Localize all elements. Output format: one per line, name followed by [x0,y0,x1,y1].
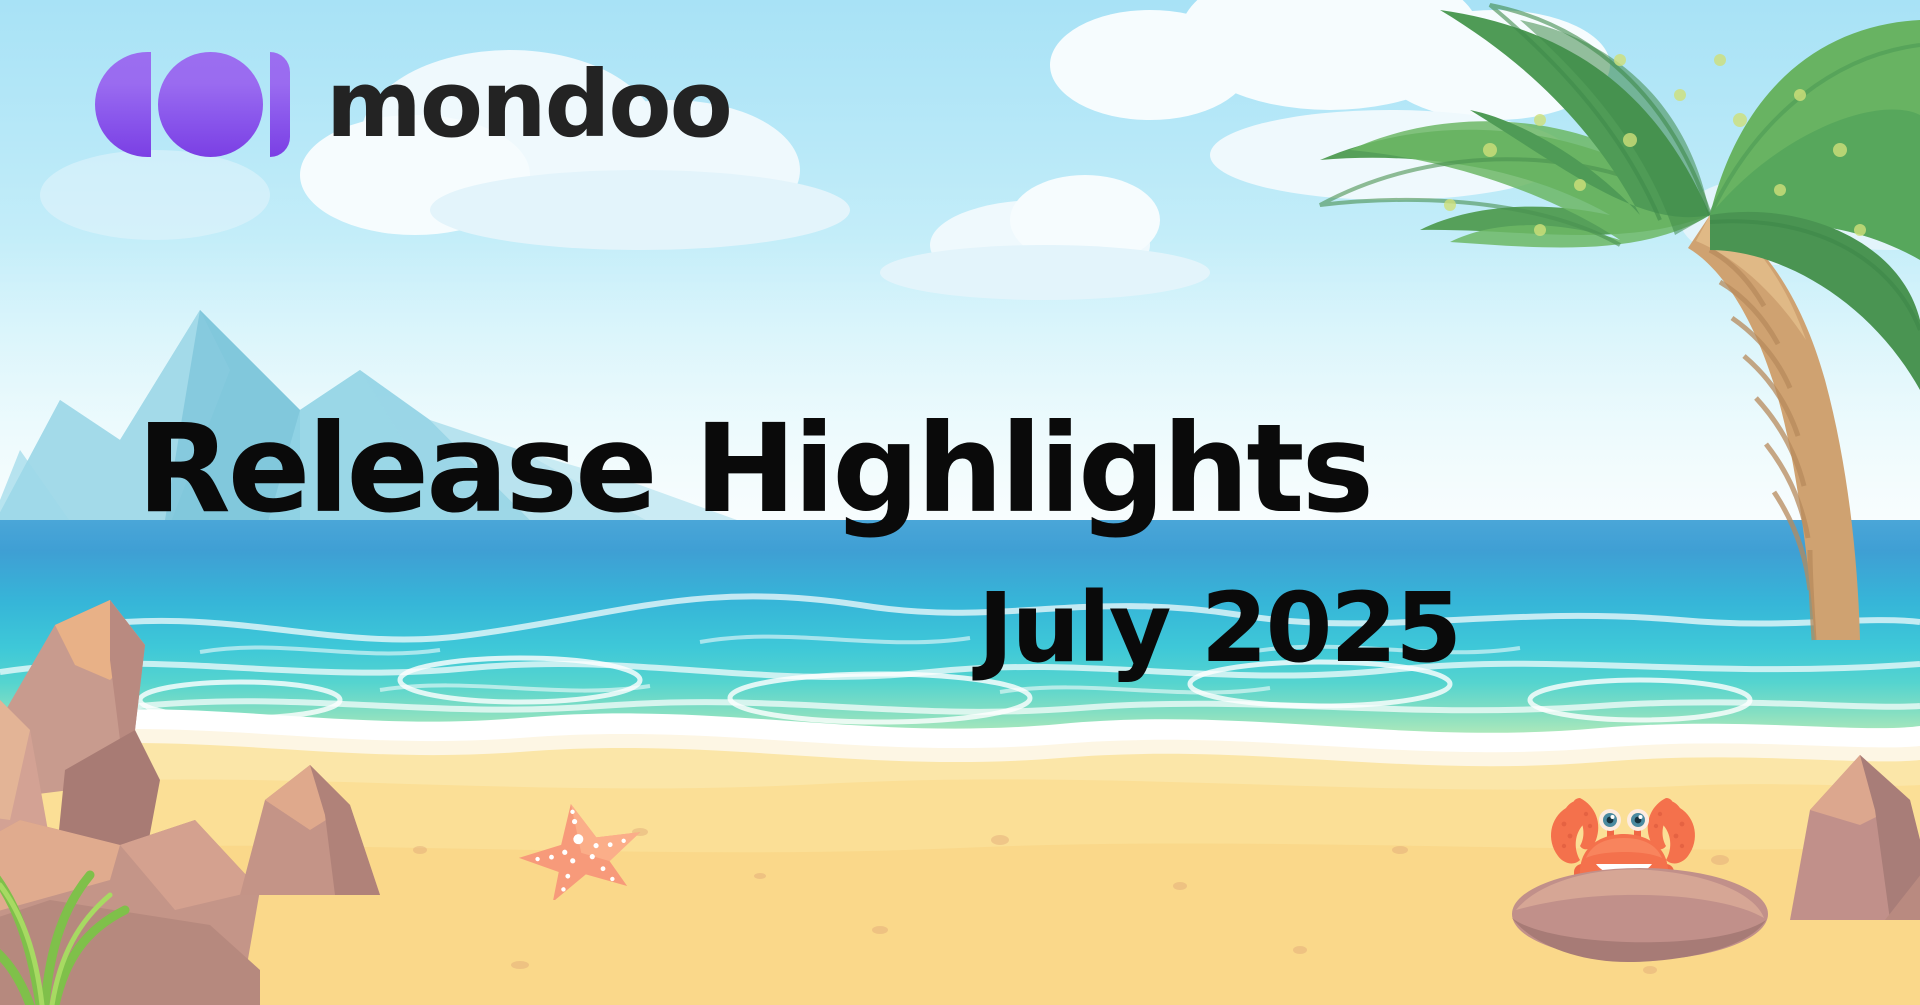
palm-fronds [1320,5,1920,390]
mondoo-wordmark: mondoo [326,59,731,151]
release-highlights-banner: mondoo Release Highlights July 2025 [0,0,1920,1005]
cloud-icon [40,150,270,240]
rock-small-left [230,745,410,895]
logo-circle-center [158,52,263,157]
palm-tree [1020,0,1920,760]
mondoo-circles-logo [95,52,290,157]
starfish [510,795,650,900]
mountains [0,250,900,550]
rock-under-crab [1510,862,1770,962]
logo-half-circle-right [270,52,290,157]
logo-half-circle-left [95,52,151,157]
cloud-icon [430,170,850,250]
mondoo-logo[interactable]: mondoo [95,52,731,157]
